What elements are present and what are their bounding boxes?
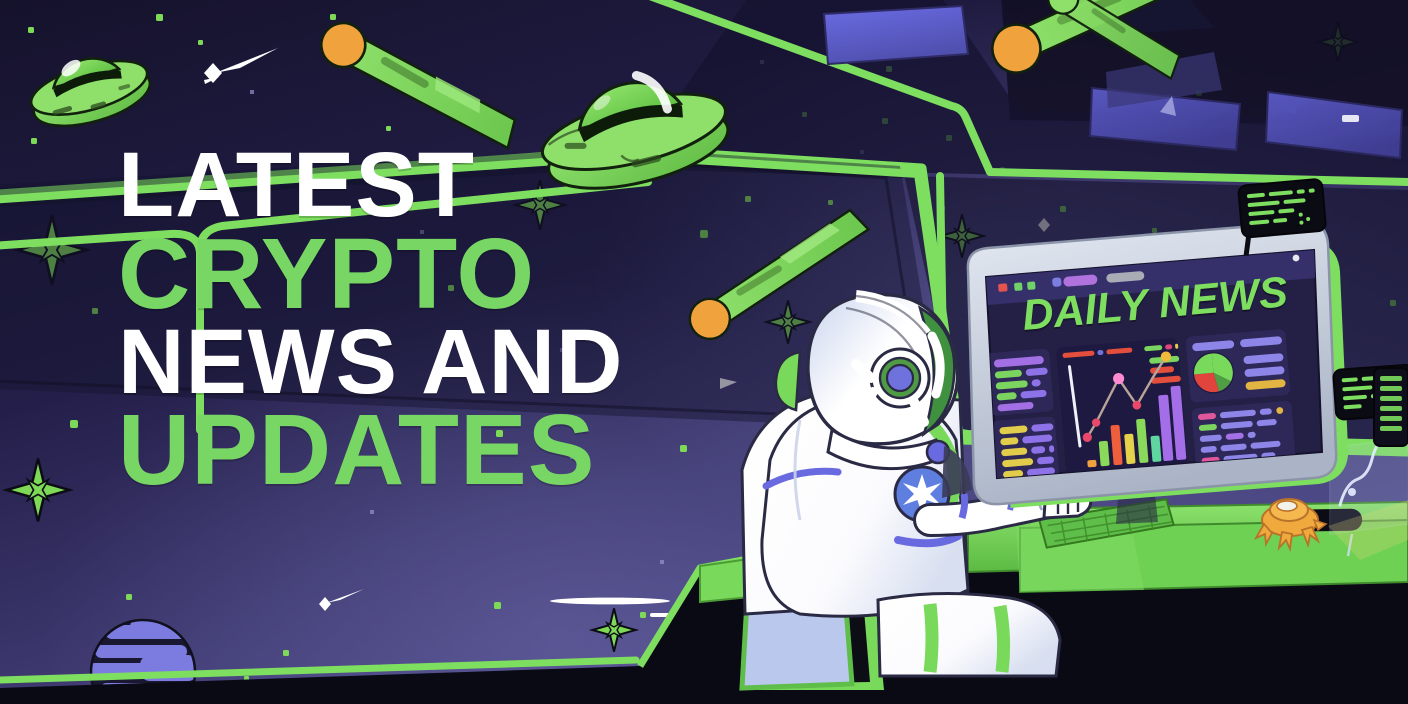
crypto-news-banner: DAILY NEWS [0,0,1408,704]
wall-panel-right [1374,368,1408,446]
terminal-top-right [1238,179,1328,256]
headline-line-1: LATEST [118,143,623,228]
headline-line-2: CRYPTO [118,228,623,320]
page-title: LATEST CRYPTO NEWS AND UPDATES [118,143,623,496]
headline-line-3: NEWS AND [118,320,623,405]
headline-line-4: UPDATES [118,404,623,496]
